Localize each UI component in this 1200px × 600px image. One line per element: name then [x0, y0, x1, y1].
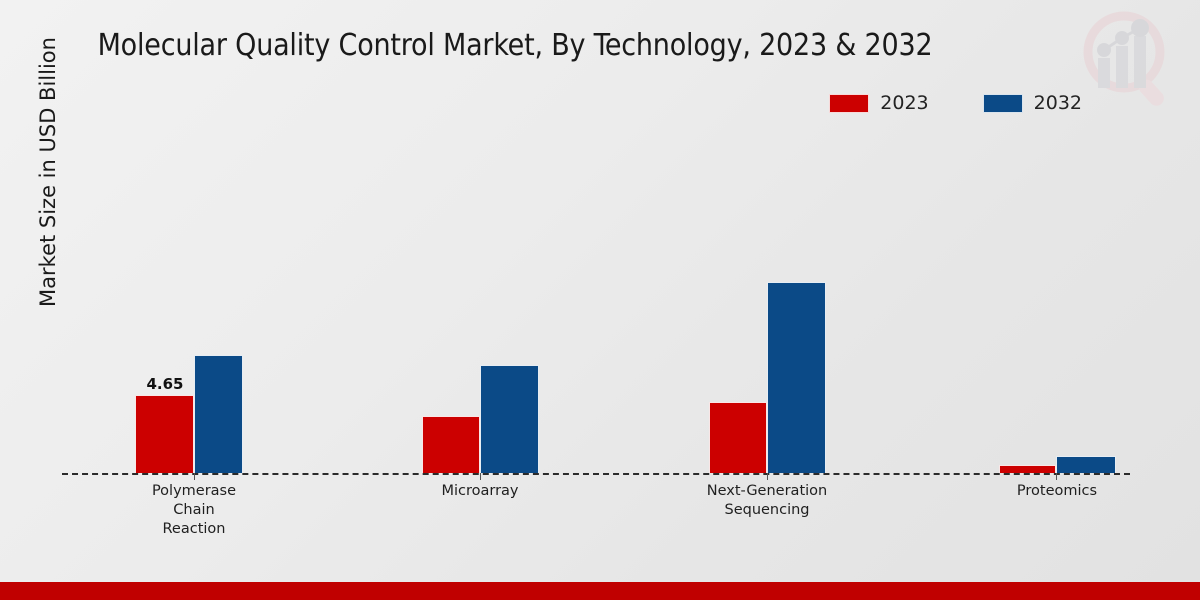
- category-label-line: Microarray: [400, 482, 560, 501]
- plot-area: 4.65 Polymerase Chain Reaction Microarra…: [0, 0, 1200, 600]
- value-label-pcr-2023: 4.65: [125, 375, 205, 393]
- category-label-ngs: Next-Generation Sequencing: [687, 482, 847, 520]
- x-tick-3: [767, 473, 768, 480]
- bar-pcr-2032[interactable]: [194, 355, 243, 473]
- bar-microarray-2032[interactable]: [480, 365, 539, 473]
- category-label-line: Proteomics: [977, 482, 1137, 501]
- bar-proteomics-2032[interactable]: [1056, 456, 1116, 473]
- footer-accent-bar: [0, 582, 1200, 600]
- bar-microarray-2023[interactable]: [422, 416, 480, 473]
- x-tick-1: [194, 473, 195, 480]
- bar-pcr-2023[interactable]: [135, 395, 194, 473]
- x-axis-baseline: [62, 473, 1130, 475]
- category-label-proteomics: Proteomics: [977, 482, 1137, 501]
- bar-ngs-2032[interactable]: [767, 282, 826, 473]
- category-label-line: Sequencing: [687, 501, 847, 520]
- category-label-line: Next-Generation: [687, 482, 847, 501]
- category-label-microarray: Microarray: [400, 482, 560, 501]
- bar-ngs-2023[interactable]: [709, 402, 767, 473]
- x-tick-4: [1056, 473, 1057, 480]
- category-label-line: Chain: [114, 501, 274, 520]
- category-label-line: Polymerase: [114, 482, 274, 501]
- category-label-pcr: Polymerase Chain Reaction: [114, 482, 274, 539]
- x-tick-2: [480, 473, 481, 480]
- bar-proteomics-2023[interactable]: [999, 465, 1056, 473]
- chart-figure: Molecular Quality Control Market, By Tec…: [0, 0, 1200, 600]
- category-label-line: Reaction: [114, 520, 274, 539]
